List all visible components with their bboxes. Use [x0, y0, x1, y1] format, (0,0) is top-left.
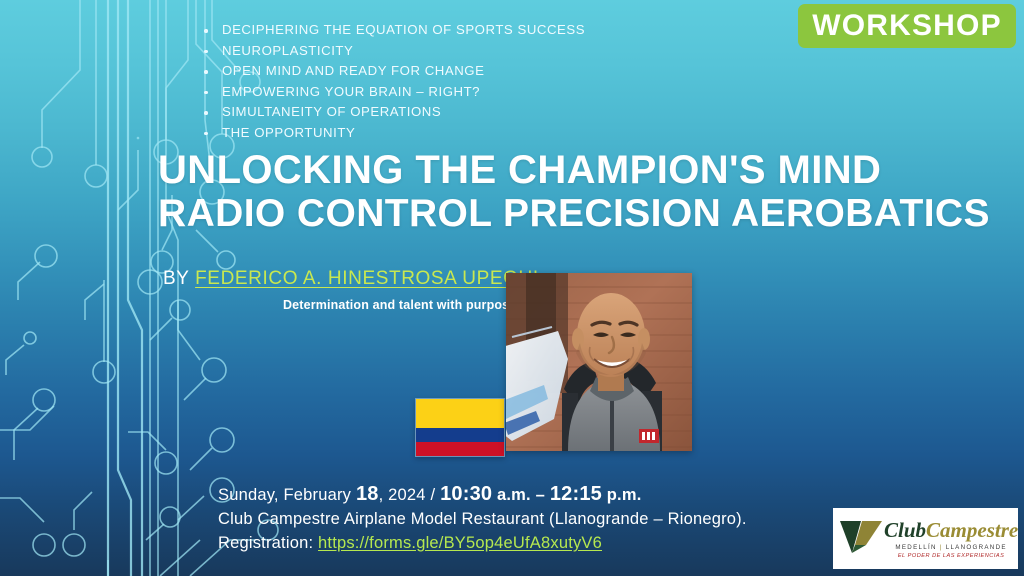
- list-item: THE OPPORTUNITY: [200, 123, 670, 144]
- registration-link[interactable]: https://forms.gle/BY5op4eUfA8xutyV6: [318, 534, 602, 552]
- location-region: LLANOGRANDE: [946, 544, 1007, 551]
- club-campestre-wordmark: ClubCampestre: [884, 519, 1018, 542]
- event-year: , 2024: [379, 486, 426, 504]
- end-meridiem: p.m.: [607, 486, 642, 504]
- date-prefix: Sunday, February: [218, 486, 351, 504]
- registration-row: Registration: https://forms.gle/BY5op4eU…: [218, 531, 747, 555]
- list-item: OPEN MIND AND READY FOR CHANGE: [200, 61, 670, 82]
- speaker-tagline: Determination and talent with purpose: [283, 298, 516, 312]
- event-day: 18: [356, 483, 379, 505]
- page-title: UNLOCKING THE CHAMPION'S MIND RADIO CONT…: [158, 148, 998, 236]
- start-meridiem: a.m.: [497, 486, 531, 504]
- workshop-poster: WORKSHOP DECIPHERING THE EQUATION OF SPO…: [0, 0, 1024, 576]
- byline: BY FEDERICO A. HINESTROSA UPEGUI: [163, 268, 539, 290]
- registration-label: Registration:: [218, 534, 313, 552]
- byline-prefix: BY: [163, 268, 189, 289]
- list-item: EMPOWERING YOUR BRAIN – RIGHT?: [200, 82, 670, 103]
- list-item: NEUROPLASTICITY: [200, 41, 670, 62]
- presenter-photo: [506, 273, 692, 451]
- workshop-badge-label: WORKSHOP: [812, 9, 1002, 43]
- location-city: MEDELLÍN: [895, 544, 936, 551]
- club-campestre-v-mark: [839, 519, 883, 559]
- list-item: DECIPHERING THE EQUATION OF SPORTS SUCCE…: [200, 20, 670, 41]
- flag-band-red: [416, 442, 504, 456]
- end-time: 12:15: [550, 483, 602, 505]
- event-details: Sunday, February 18, 2024 / 10:30 a.m. –…: [218, 482, 747, 555]
- title-line-1: UNLOCKING THE CHAMPION'S MIND: [158, 148, 998, 192]
- colombia-flag-icon: [415, 398, 505, 457]
- title-line-2: RADIO CONTROL PRECISION AEROBATICS: [158, 192, 998, 236]
- speaker-name: FEDERICO A. HINESTROSA UPEGUI: [195, 268, 539, 289]
- list-item: SIMULTANEITY OF OPERATIONS: [200, 102, 670, 123]
- club-campestre-logo: ClubCampestre MEDELLÍN|LLANOGRANDE EL PO…: [833, 508, 1018, 569]
- event-datetime-row: Sunday, February 18, 2024 / 10:30 a.m. –…: [218, 482, 747, 507]
- topic-list: DECIPHERING THE EQUATION OF SPORTS SUCCE…: [200, 20, 670, 143]
- flag-band-yellow: [416, 399, 504, 428]
- club-campestre-slogan: EL PODER DE LAS EXPERIENCIAS: [898, 553, 1005, 559]
- datetime-separator: /: [430, 486, 435, 504]
- workshop-badge: WORKSHOP: [798, 4, 1016, 48]
- wordmark-club: Club: [884, 518, 926, 542]
- club-campestre-text: ClubCampestre MEDELLÍN|LLANOGRANDE EL PO…: [884, 519, 1018, 559]
- time-dash: –: [536, 486, 545, 504]
- wordmark-campestre: Campestre: [926, 518, 1018, 542]
- flag-band-blue: [416, 428, 504, 442]
- location-divider: |: [940, 544, 943, 551]
- event-venue: Club Campestre Airplane Model Restaurant…: [218, 507, 747, 531]
- start-time: 10:30: [440, 483, 492, 505]
- club-campestre-locations: MEDELLÍN|LLANOGRANDE: [895, 544, 1006, 551]
